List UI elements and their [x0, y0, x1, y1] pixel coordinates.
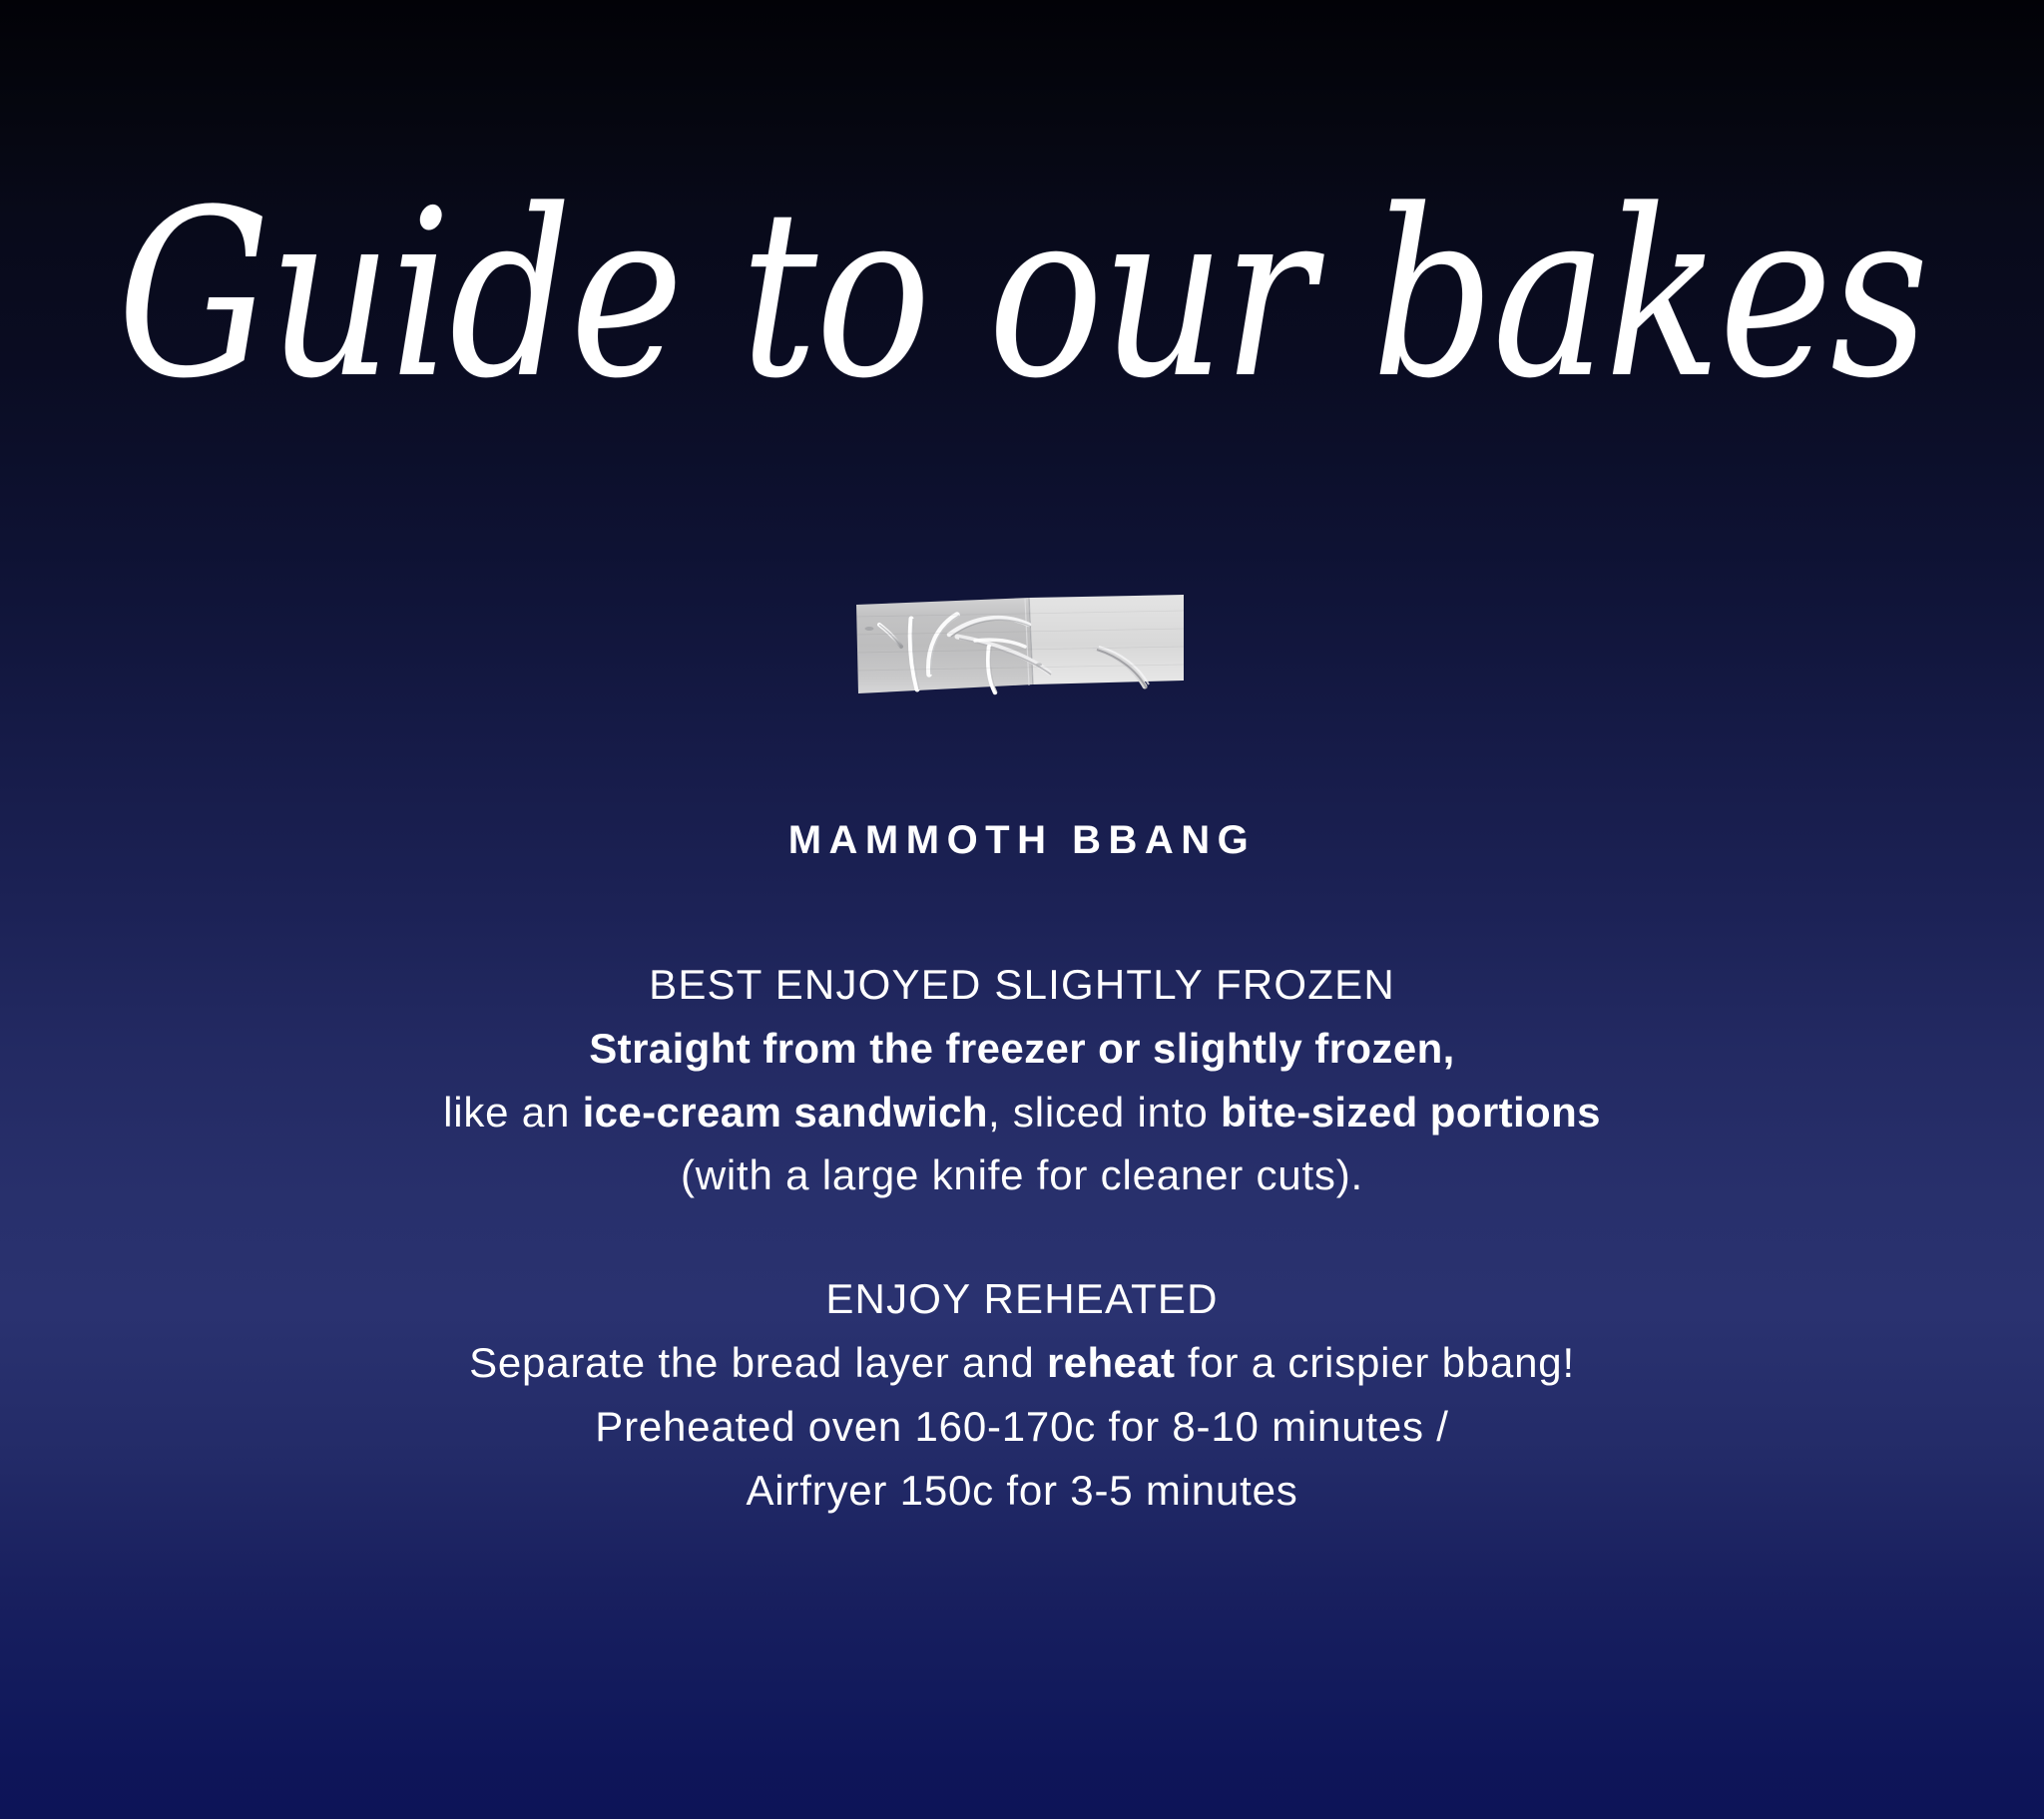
section-frozen-line-3: (with a large knife for cleaner cuts). — [0, 1143, 2044, 1207]
guide-poster: Guide to our bakes — [0, 0, 2044, 1819]
section-frozen-line-1: Straight from the freezer or slightly fr… — [0, 1017, 2044, 1081]
page-title: Guide to our bakes — [117, 180, 1926, 410]
text-bold: ice-cream sandwich — [583, 1089, 988, 1136]
section-reheated-line-1: Separate the bread layer and reheat for … — [0, 1331, 2044, 1395]
text-plain: , sliced into — [988, 1089, 1221, 1136]
section-reheated-line-3: Airfryer 150c for 3-5 minutes — [0, 1459, 2044, 1523]
text-plain: for a crispier bbang! — [1175, 1339, 1574, 1386]
text-plain: Separate the bread layer and — [469, 1339, 1047, 1386]
silver-tape-icon — [853, 589, 1187, 710]
section-reheated-heading: ENJOY REHEATED — [0, 1267, 2044, 1331]
text-plain: like an — [443, 1089, 582, 1136]
text-bold: bite-sized portions — [1221, 1089, 1601, 1136]
page-title-wrapper: Guide to our bakes — [0, 198, 2044, 393]
guide-copy: BEST ENJOYED SLIGHTLY FROZEN Straight fr… — [0, 953, 2044, 1523]
section-reheated: ENJOY REHEATED Separate the bread layer … — [0, 1267, 2044, 1522]
section-reheated-line-2: Preheated oven 160-170c for 8-10 minutes… — [0, 1395, 2044, 1459]
text-bold: reheat — [1047, 1339, 1175, 1386]
section-frozen-line-2: like an ice-cream sandwich, sliced into … — [0, 1081, 2044, 1144]
section-frozen-heading: BEST ENJOYED SLIGHTLY FROZEN — [0, 953, 2044, 1017]
section-frozen: BEST ENJOYED SLIGHTLY FROZEN Straight fr… — [0, 953, 2044, 1207]
product-name: MAMMOTH BBANG — [0, 818, 2044, 863]
